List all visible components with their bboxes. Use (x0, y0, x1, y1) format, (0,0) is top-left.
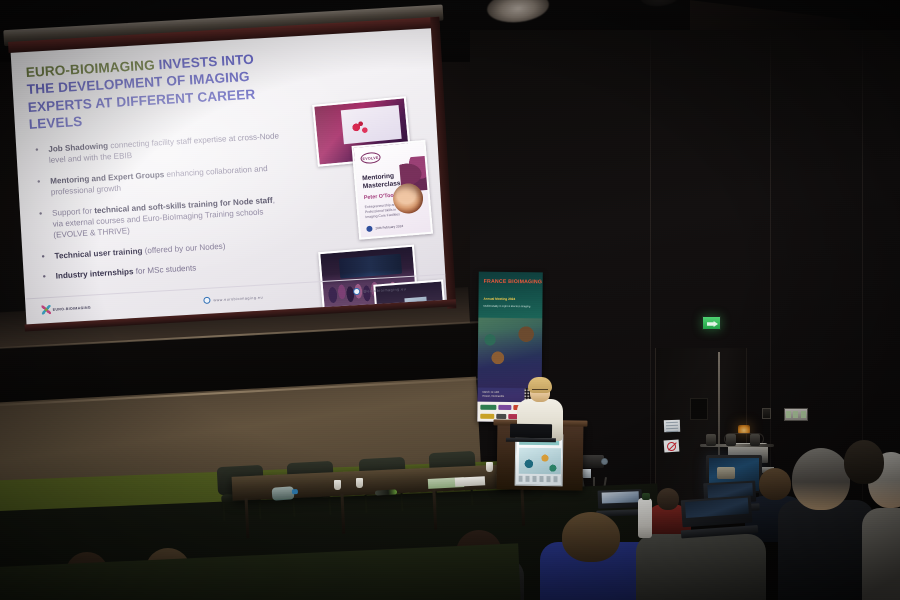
screen-surface: EURO-BIOIMAGING INVESTS INTO THE DEVELOP… (11, 28, 447, 324)
paper-sheet (455, 476, 485, 487)
footer-url-center-text: www.eurobioimaging.eu (213, 295, 263, 302)
wall-light-switch[interactable] (784, 408, 808, 421)
glasses-icon (532, 389, 548, 393)
footer-social-handle: @eurobioimaging.eu (353, 285, 406, 295)
bullet-bold-text: Mentoring and Expert Groups (50, 170, 165, 186)
footer-logo-text: EURO-BIOIMAGING (53, 305, 91, 311)
banner-subtitle: Annual Meeting 2024 (483, 297, 535, 302)
water-bottle (638, 498, 652, 538)
slide-bullet-item: Support for technical and soft-skills tr… (34, 194, 288, 243)
slide-bullet-item: Mentoring and Expert Groups enhancing co… (32, 162, 285, 200)
slide-bullet-list: Job Shadowing connecting facility staff … (30, 130, 290, 284)
exit-sign-icon (702, 316, 721, 330)
slide-bullet-item: Industry internships for MSc students (37, 257, 289, 283)
banner-location: Rouen, Normandie (482, 394, 504, 397)
door-notice-sign (664, 420, 680, 433)
banner-title: FRANCE BIOIMAGING (484, 280, 543, 286)
eurobioimaging-logo: EURO-BIOIMAGING (41, 303, 91, 315)
audience-member (838, 440, 892, 510)
paper-cup (486, 462, 493, 472)
projection-screen: EURO-BIOIMAGING INVESTS INTO THE DEVELOP… (8, 17, 456, 332)
bullet-rest-text: (offered by our Nodes) (142, 242, 225, 256)
footer-website-url: www.eurobioimaging.eu (203, 294, 263, 304)
social-icon (353, 288, 360, 295)
bullet-bold-text: Job Shadowing (48, 141, 108, 153)
slide-photo-masterclass: EVOLVE Mentoring Masterclass Peter O'Too… (352, 140, 434, 240)
door-window (690, 398, 708, 420)
av-control-rig (700, 432, 774, 454)
no-entry-sign-icon (664, 439, 680, 452)
podium-laptop[interactable] (506, 424, 556, 443)
slide-title: EURO-BIOIMAGING INVESTS INTO THE DEVELOP… (25, 49, 279, 133)
paper-cup (356, 478, 363, 488)
video-camera-icon (582, 455, 604, 468)
bullet-bold-text: Technical user training (54, 246, 142, 260)
bullet-rest-text: for MSc students (133, 264, 196, 277)
audience-laptop[interactable] (679, 496, 751, 539)
masterclass-date-text: 20th February 2024 (375, 224, 403, 230)
banner-date-location: March 12-14th Rouen, Normandie (482, 391, 504, 398)
bullet-bold-text: Industry internships (56, 268, 134, 282)
presentation-slide: EURO-BIOIMAGING INVESTS INTO THE DEVELOP… (11, 28, 447, 324)
logo-mark-icon (41, 305, 51, 315)
paper-cup (334, 480, 341, 490)
banner-tagline: Multimodality in Light & Electron Imagin… (483, 305, 537, 309)
bullet-lead-text: Support for (52, 206, 95, 217)
wall-outlet (762, 408, 771, 419)
slide-bullet-item: Job Shadowing connecting facility staff … (30, 130, 283, 168)
masterclass-date: 20th February 2024 (366, 223, 403, 232)
evolve-logo: EVOLVE (360, 152, 381, 165)
footer-url-right-text: @eurobioimaging.eu (363, 287, 406, 294)
plastic-bottle (272, 486, 295, 501)
lecture-hall-scene: EURO-BIOIMAGING INVESTS INTO THE DEVELOP… (0, 0, 900, 600)
globe-icon (203, 297, 210, 304)
